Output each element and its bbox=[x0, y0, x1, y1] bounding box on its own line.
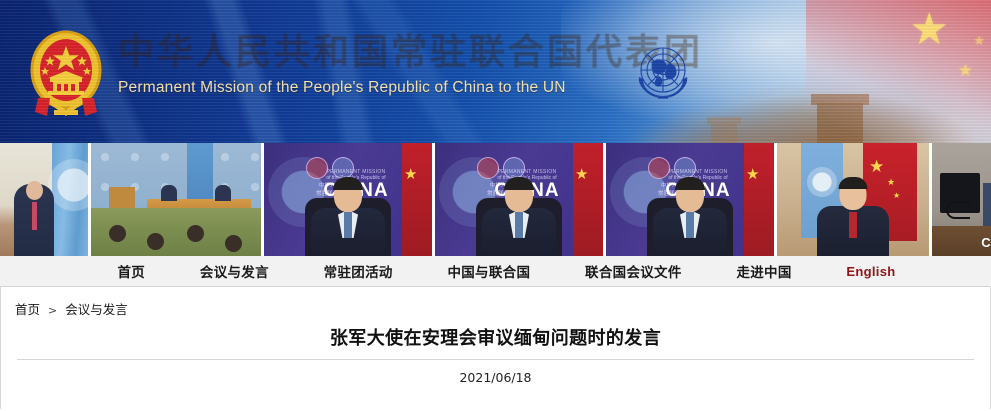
un-emblem-watermark-icon bbox=[48, 159, 88, 211]
nav-item-home[interactable]: 首页 bbox=[118, 261, 146, 281]
photo-security-council-seat[interactable]: CH bbox=[932, 143, 991, 256]
china-flag-background: ★ ★ ★ bbox=[806, 0, 991, 143]
person-hair bbox=[839, 177, 868, 189]
person-head bbox=[26, 181, 43, 200]
flag-small-star-2-icon: ★ bbox=[973, 34, 985, 47]
china-flag-icon bbox=[744, 143, 774, 256]
site-masthead: ★ ★ ★ 中华人民共和国常驻联合国代表团 Permanent bbox=[0, 0, 991, 143]
photo-un-secretary-general[interactable] bbox=[0, 143, 88, 256]
breadcrumb-separator: > bbox=[48, 304, 57, 317]
china-flag-icon bbox=[402, 143, 432, 256]
audience-head bbox=[109, 225, 126, 242]
flag-small-star-icon: ★ bbox=[958, 62, 973, 79]
nav-items-container: 首页 会议与发言 常驻团活动 中国与联合国 联合国会议文件 走进中国 Engli… bbox=[96, 261, 896, 281]
photo-deputy-representative-briefing[interactable]: 中华人民共和国常驻联合国代表团 PERMANENT MISSION of the… bbox=[435, 143, 603, 256]
article-title: 张军大使在安理会审议缅甸问题时的发言 bbox=[1, 324, 990, 350]
united-nations-emblem-icon bbox=[622, 32, 704, 114]
breadcrumb: 首页 > 会议与发言 bbox=[15, 299, 128, 318]
delegate-seat bbox=[983, 183, 991, 231]
flag-large-star-icon: ★ bbox=[869, 157, 884, 177]
masthead-title-group: 中华人民共和国常驻联合国代表团 Permanent Mission of the… bbox=[118, 28, 618, 97]
nav-item-mission-activities[interactable]: 常驻团活动 bbox=[324, 261, 393, 281]
audience-seating bbox=[91, 208, 261, 256]
china-national-emblem-icon bbox=[24, 26, 108, 118]
breadcrumb-home[interactable]: 首页 bbox=[15, 302, 40, 317]
person-tie bbox=[344, 212, 352, 238]
photo-counsellor-briefing[interactable]: 中华人民共和国常驻联合国代表团 PERMANENT MISSION of the… bbox=[606, 143, 774, 256]
un-flag-icon bbox=[52, 143, 88, 256]
great-wall-tower-far-icon bbox=[711, 123, 737, 143]
site-title-chinese: 中华人民共和国常驻联合国代表团 bbox=[118, 28, 618, 74]
photo-press-briefing-room[interactable] bbox=[91, 143, 261, 256]
article-date: 2021/06/18 bbox=[1, 370, 990, 385]
china-flag-icon bbox=[573, 143, 603, 256]
person-tie bbox=[515, 212, 523, 238]
site-title-english: Permanent Mission of the People's Republ… bbox=[118, 79, 618, 97]
flag-small-star-2-icon: ★ bbox=[893, 191, 900, 200]
audience-head bbox=[147, 233, 164, 250]
microphone-icon bbox=[946, 201, 970, 219]
photo-diplomat-with-flags[interactable]: ★ ★ ★ bbox=[777, 143, 929, 256]
flag-large-star-icon: ★ bbox=[910, 8, 949, 52]
nav-item-un-documents[interactable]: 联合国会议文件 bbox=[585, 261, 682, 281]
seated-speaker bbox=[161, 185, 177, 201]
audience-head bbox=[225, 235, 242, 252]
country-nameplate: CH bbox=[981, 235, 991, 250]
main-navigation: 首页 会议与发言 常驻团活动 中国与联合国 联合国会议文件 走进中国 Engli… bbox=[0, 256, 991, 287]
hero-photo-strip: 中华人民共和国常驻联合国代表团 PERMANENT MISSION of the… bbox=[0, 143, 991, 256]
photo-ambassador-zhang-jun-briefing[interactable]: 中华人民共和国常驻联合国代表团 PERMANENT MISSION of the… bbox=[264, 143, 432, 256]
seated-speaker bbox=[215, 185, 231, 201]
nav-item-about-china[interactable]: 走进中国 bbox=[736, 261, 791, 281]
nav-item-meetings-and-statements[interactable]: 会议与发言 bbox=[200, 261, 269, 281]
nav-item-english[interactable]: English bbox=[846, 264, 895, 279]
title-divider bbox=[17, 359, 974, 360]
person-tie bbox=[32, 202, 37, 230]
person-tie bbox=[686, 212, 694, 238]
breadcrumb-current[interactable]: 会议与发言 bbox=[65, 302, 128, 317]
article-content-area: 首页 > 会议与发言 张军大使在安理会审议缅甸问题时的发言 2021/06/18 bbox=[0, 287, 991, 409]
flag-small-star-icon: ★ bbox=[887, 177, 895, 188]
nav-item-china-and-the-un[interactable]: 中国与联合国 bbox=[447, 261, 530, 281]
audience-head bbox=[187, 225, 204, 242]
person-tie bbox=[849, 212, 857, 238]
